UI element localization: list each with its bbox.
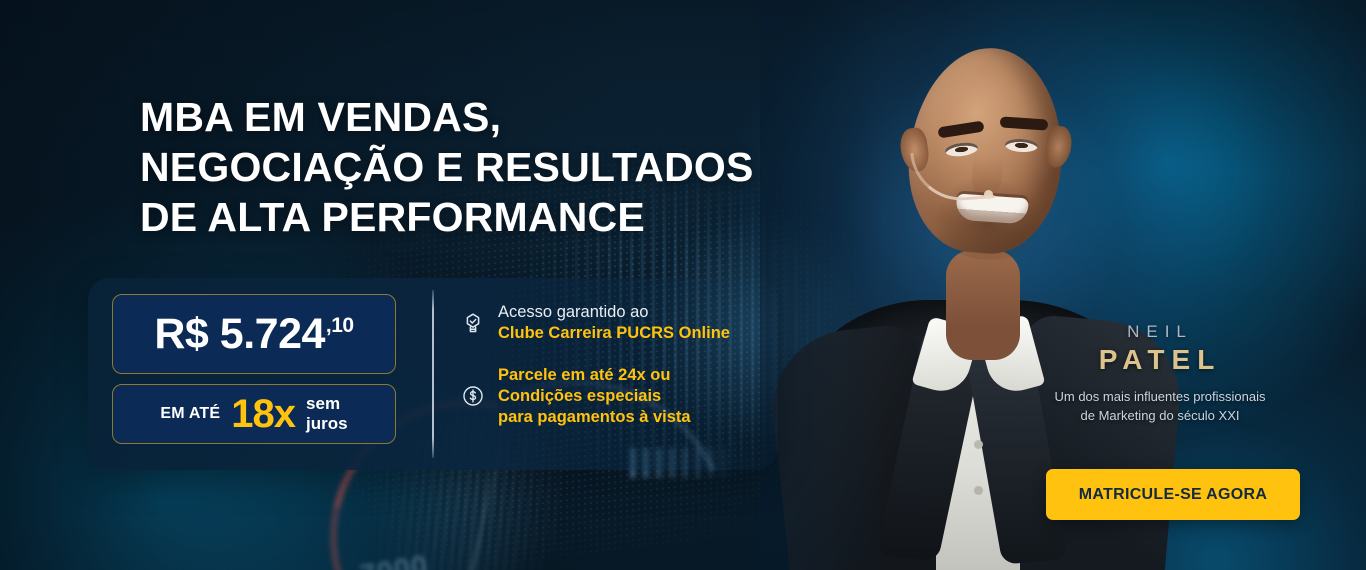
- benefit-line-2: Condições especiais: [498, 387, 661, 405]
- benefit-line-3: para pagamentos à vista: [498, 408, 691, 426]
- award-badge-check-icon: [460, 310, 486, 336]
- headline-line-3: DE ALTA PERFORMANCE: [140, 192, 780, 242]
- page-title: MBA EM VENDAS, NEGOCIAÇÃO E RESULTADOS D…: [140, 92, 780, 242]
- benefit-text: Acesso garantido ao Clube Carreira PUCRS…: [498, 302, 730, 343]
- installment-prefix: EM ATÉ: [160, 405, 220, 423]
- vertical-divider: [432, 290, 434, 458]
- price-value: R$ 5.724 ,10: [154, 313, 353, 356]
- headline-line-2: NEGOCIAÇÃO E RESULTADOS: [140, 142, 780, 192]
- installment-suffix-line-1: sem: [306, 394, 340, 413]
- benefit-line-2: Clube Carreira PUCRS Online: [498, 324, 730, 342]
- speaker-first-name: NEIL: [1020, 322, 1300, 342]
- benefit-line-1: Parcele em até 24x ou: [498, 366, 670, 384]
- benefit-text: Parcele em até 24x ou Condições especiai…: [498, 365, 691, 427]
- price-cents: ,10: [326, 315, 354, 336]
- benefit-line-1: Acesso garantido ao: [498, 303, 648, 321]
- price-box: R$ 5.724 ,10: [112, 294, 396, 374]
- offer-card: R$ 5.724 ,10 EM ATÉ 18x sem juros: [88, 278, 778, 470]
- speaker-tagline-line-1: Um dos mais influentes profissionais: [1055, 389, 1266, 404]
- speaker-name-block: NEIL PATEL Um dos mais influentes profis…: [1020, 322, 1300, 426]
- installment-box: EM ATÉ 18x sem juros: [112, 384, 396, 444]
- speaker-tagline-line-2: de Marketing do século XXI: [1081, 408, 1240, 423]
- promo-banner: 7000 MBA EM VENDAS, NEGOCIAÇÃO E RESULTA…: [0, 0, 1366, 570]
- speaker-last-name: PATEL: [1020, 344, 1300, 376]
- headline-line-1: MBA EM VENDAS,: [140, 92, 780, 142]
- enroll-now-button[interactable]: MATRICULE-SE AGORA: [1046, 469, 1300, 520]
- speaker-tagline: Um dos mais influentes profissionais de …: [1020, 388, 1300, 426]
- price-amount: R$ 5.724: [154, 313, 325, 356]
- benefit-item: Acesso garantido ao Clube Carreira PUCRS…: [460, 302, 760, 343]
- installment-count: 18x: [231, 394, 295, 434]
- installment-suffix: sem juros: [306, 394, 348, 433]
- installment-suffix-line-2: juros: [306, 414, 348, 433]
- benefits-list: Acesso garantido ao Clube Carreira PUCRS…: [460, 302, 760, 449]
- benefit-item: Parcele em até 24x ou Condições especiai…: [460, 365, 760, 427]
- dollar-circle-icon: [460, 383, 486, 409]
